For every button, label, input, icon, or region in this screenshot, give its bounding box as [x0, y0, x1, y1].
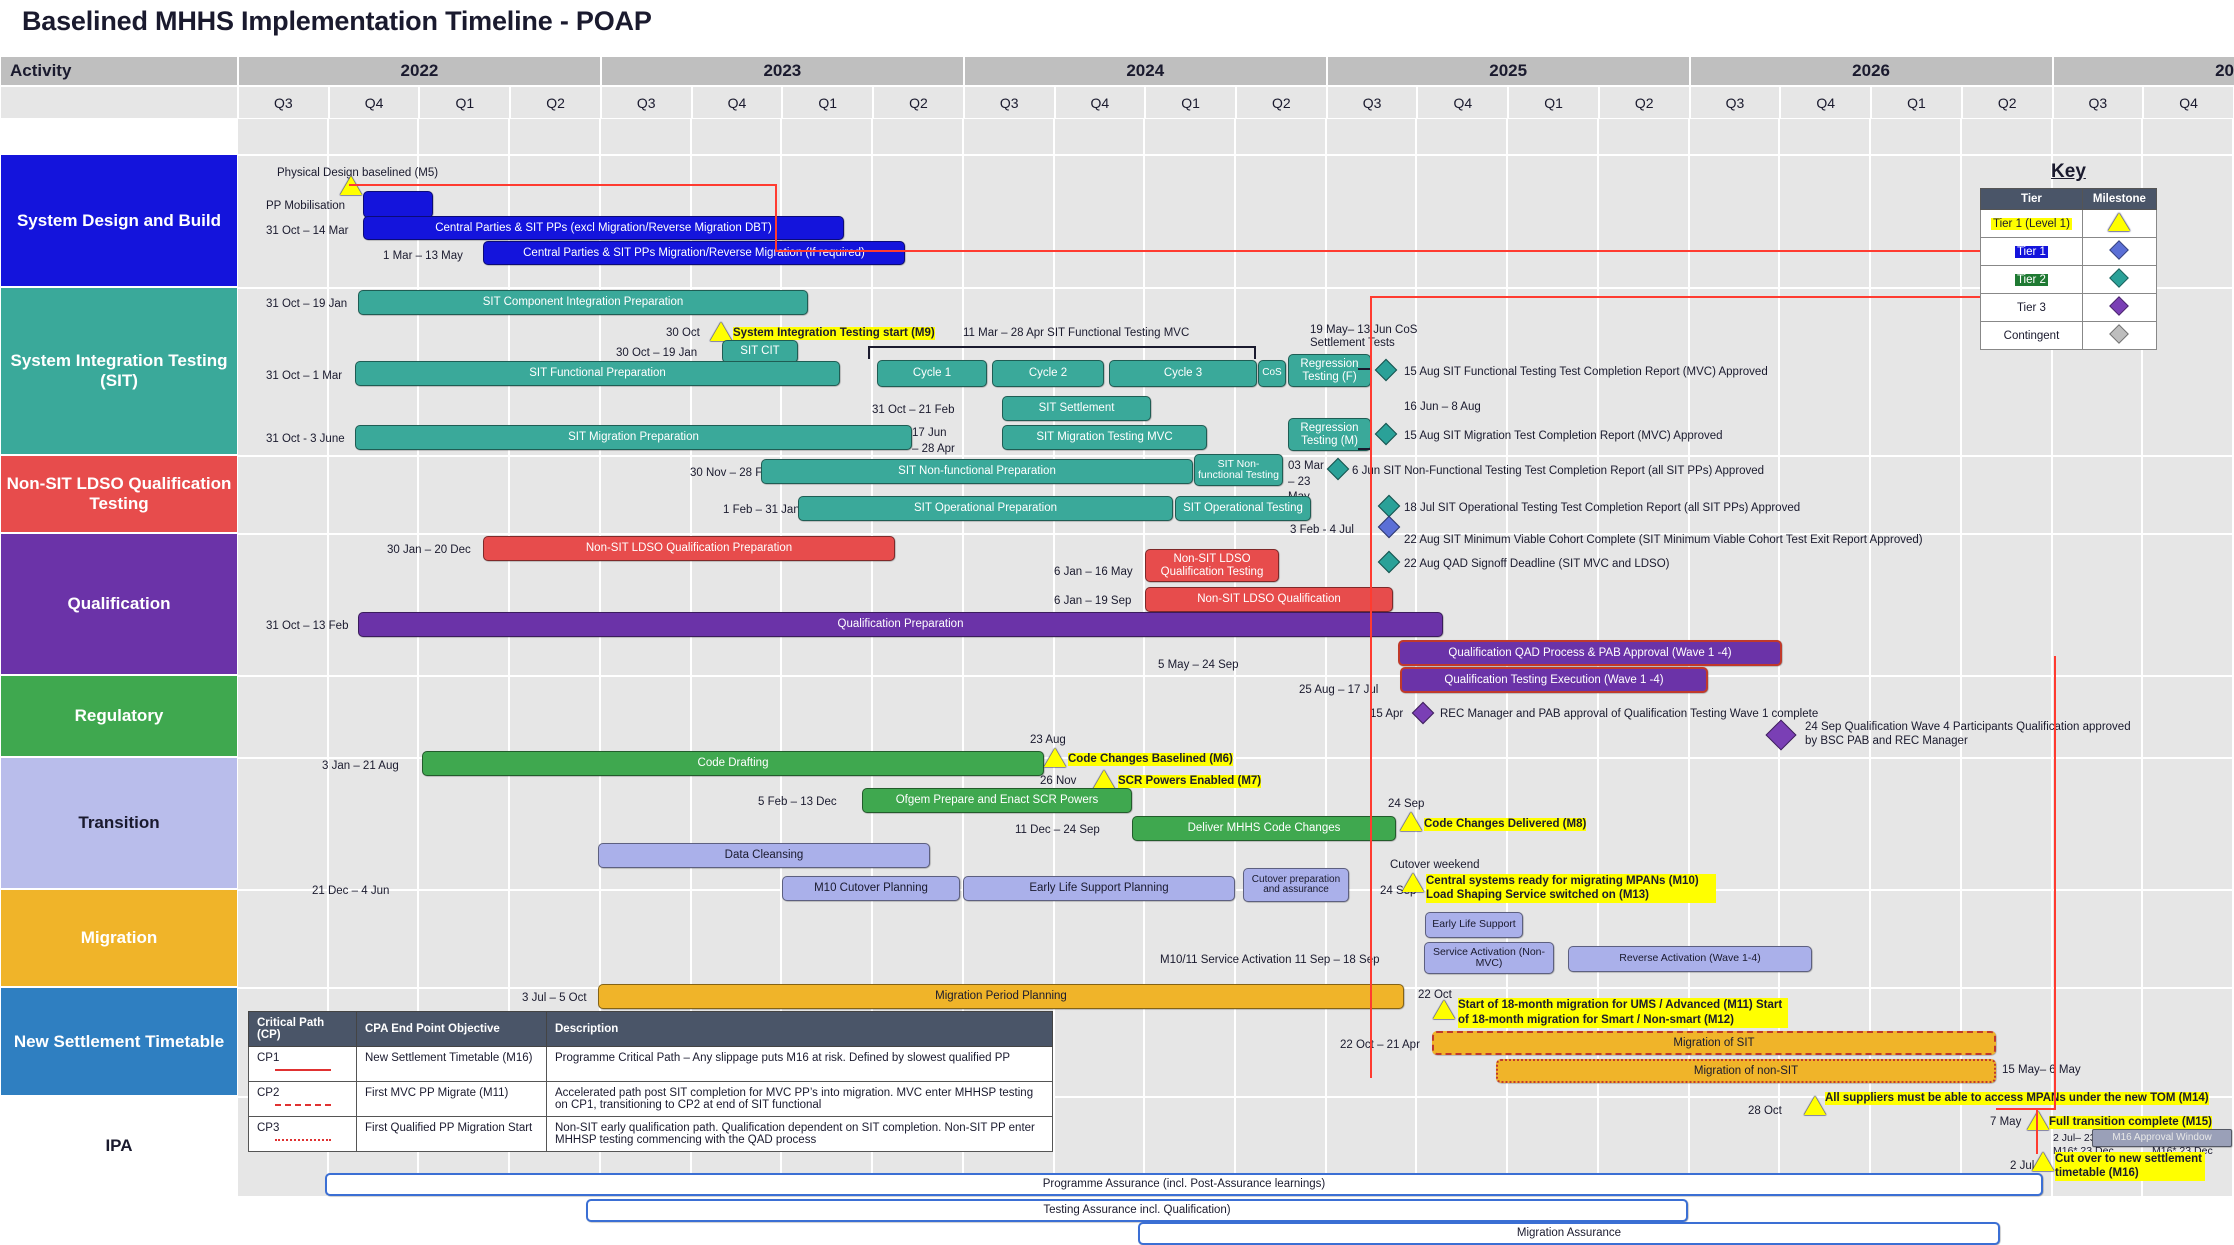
annotation-15may-6may: 15 May– 6 May	[2002, 1064, 2081, 1077]
activity-band-migration[interactable]: Migration	[0, 889, 238, 987]
bar-qualification-preparation[interactable]: Qualification Preparation	[358, 612, 1443, 637]
bar-code-drafting[interactable]: Code Drafting	[422, 751, 1044, 776]
bar-qualification-testing-execution[interactable]: Qualification Testing Execution (Wave 1 …	[1400, 667, 1708, 693]
cp-description-cell: Non-SIT early qualification path. Qualif…	[547, 1117, 1053, 1152]
table-row: CP3First Qualified PP Migration StartNon…	[249, 1117, 1053, 1152]
bar-reverse-activation[interactable]: Reverse Activation (Wave 1-4)	[1568, 946, 1812, 972]
activity-band-ipa[interactable]: IPA	[0, 1096, 238, 1196]
annotation-cutover-weekend: Cutover weekend	[1390, 859, 1480, 872]
year-header-2023: 2023	[601, 56, 964, 86]
quarter-header-7: Q2	[873, 86, 964, 119]
quarter-header-11: Q2	[1236, 86, 1327, 119]
bar-migration-of-sit[interactable]: Migration of SIT	[1432, 1031, 1996, 1055]
bar-sit-cit[interactable]: SIT CIT	[722, 340, 798, 363]
annotation-rec-pab-wave1: REC Manager and PAB approval of Qualific…	[1440, 708, 1818, 721]
quarter-column-10	[1145, 119, 1236, 1196]
date-sit-component-prep: 31 Oct – 19 Jan	[266, 298, 347, 311]
key-col-milestone: Milestone	[2082, 189, 2156, 210]
date-sit-functional-prep: 31 Oct – 1 Mar	[266, 370, 342, 383]
table-row: CP2First MVC PP Migrate (M11)Accelerated…	[249, 1082, 1053, 1117]
cp-id-label: CP3	[257, 1122, 279, 1134]
milestone-triangle-m10-m13	[1402, 873, 1424, 892]
quarter-header-19: Q2	[1962, 86, 2053, 119]
cp-line-sample	[275, 1139, 331, 1141]
bar-cycle-1[interactable]: Cycle 1	[877, 360, 987, 387]
bar-early-life-support[interactable]: Early Life Support	[1425, 912, 1523, 938]
bar-sit-settlement[interactable]: SIT Settlement	[1002, 396, 1151, 421]
quarter-header-8: Q3	[964, 86, 1055, 119]
page-title: Baselined MHHS Implementation Timeline -…	[22, 6, 652, 37]
quarter-header-16: Q3	[1690, 86, 1781, 119]
bar-nonsit-ldso-qualification-testing[interactable]: Non-SIT LDSO Qualification Testing	[1145, 549, 1279, 582]
quarter-column-9	[1055, 119, 1146, 1196]
activity-band-system-integration-testing-sit[interactable]: System Integration Testing (SIT)	[0, 287, 238, 455]
year-header-2025: 2025	[1327, 56, 1690, 86]
bar-cos[interactable]: CoS	[1258, 360, 1286, 387]
activity-band-qualification[interactable]: Qualification	[0, 533, 238, 675]
key-milestone-shape	[2082, 238, 2156, 266]
header-blank	[0, 86, 238, 119]
bar-deliver-mhhs-code-changes[interactable]: Deliver MHHS Code Changes	[1132, 816, 1396, 841]
annotation-m1011-service-activation: M10/11 Service Activation 11 Sep – 18 Se…	[1160, 954, 1380, 967]
quarter-header-21: Q4	[2143, 86, 2234, 119]
annotation-cos-settlement-tests: 19 May– 13 Jun CoS Settlement Tests	[1310, 324, 1450, 350]
date-migration-period-planning: 3 Jul – 5 Oct	[522, 992, 587, 1005]
activity-band-transition[interactable]: Transition	[0, 757, 238, 889]
quarter-header-10: Q1	[1145, 86, 1236, 119]
annotation-sit-functional-testing-mvc: 11 Mar – 28 Apr SIT Functional Testing M…	[963, 327, 1189, 340]
diamond-icon	[2110, 296, 2130, 316]
key-tier-label: Tier 1 (Level 1)	[1981, 210, 2083, 238]
bar-programme-assurance[interactable]: Programme Assurance (incl. Post-Assuranc…	[325, 1173, 2043, 1196]
annotation-m16: Cut over to new settlement timetable (M1…	[2055, 1152, 2205, 1181]
date-ofgem-scr: 5 Feb – 13 Dec	[758, 796, 837, 809]
date-m9: 30 Oct	[666, 327, 700, 340]
key-row: Contingent	[1981, 322, 2157, 350]
milestone-triangle-m7	[1093, 770, 1115, 789]
date-sit-migration-testing-mvc: 17 Jun – 28 Apr	[912, 426, 956, 457]
bar-cycle-3[interactable]: Cycle 3	[1109, 360, 1257, 387]
date-sit-migration-prep: 31 Oct - 3 June	[266, 433, 345, 446]
annotation-sit-operational-tcr: 18 Jul SIT Operational Testing Test Comp…	[1404, 502, 1800, 515]
annotation-m9: System Integration Testing start (M9)	[733, 327, 935, 340]
date-code-drafting: 3 Jan – 21 Aug	[322, 760, 399, 773]
bar-cycle-2[interactable]: Cycle 2	[992, 360, 1104, 387]
bracket-sit-functional-testing	[868, 346, 1256, 359]
bar-central-parties-migration[interactable]: Central Parties & SIT PPs Migration/Reve…	[483, 241, 905, 265]
key-tier-label: Tier 1	[1981, 238, 2083, 266]
quarter-header-4: Q3	[601, 86, 692, 119]
table-row: CP1New Settlement Timetable (M16)Program…	[249, 1047, 1053, 1082]
cp-description-cell: Programme Critical Path – Any slippage p…	[547, 1047, 1053, 1082]
annotation-m10-m13: Central systems ready for migrating MPAN…	[1426, 874, 1716, 903]
key-tier-label: Contingent	[1981, 322, 2083, 350]
quarter-header-18: Q1	[1871, 86, 1962, 119]
annotation-m14: All suppliers must be able to access MPA…	[1825, 1092, 2209, 1105]
quarter-header-2: Q1	[419, 86, 510, 119]
activity-band-system-design-and-build[interactable]: System Design and Build	[0, 154, 238, 287]
cp-id-cell: CP2	[249, 1082, 357, 1117]
date-m15: 7 May	[1990, 1116, 2021, 1129]
critical-path-table: Critical Path (CP) CPA End Point Objecti…	[248, 1011, 1053, 1152]
quarter-header-6: Q1	[782, 86, 873, 119]
date-nonsit-ldso-qualification: 6 Jan – 19 Sep	[1054, 595, 1131, 608]
annotation-m8: Code Changes Delivered (M8)	[1424, 818, 1586, 831]
quarter-header-15: Q2	[1599, 86, 1690, 119]
cp-col-1: CPA End Point Objective	[357, 1012, 547, 1047]
milestone-triangle-m6	[1044, 748, 1066, 767]
key-col-tier: Tier	[1981, 189, 2083, 210]
date-rec-manager-approval: 15 Apr	[1370, 708, 1403, 721]
annotation-m7: SCR Powers Enabled (M7)	[1118, 775, 1261, 788]
date-migration-of-sit: 22 Oct – 21 Apr	[1340, 1039, 1420, 1052]
bar-ofgem-scr-powers[interactable]: Ofgem Prepare and Enact SCR Powers	[862, 788, 1132, 813]
date-qualification-qad-pab: 5 May – 24 Sep	[1158, 659, 1239, 672]
key-table: Tier Milestone Tier 1 (Level 1)Tier 1Tie…	[1980, 188, 2157, 350]
annotation-16jun-8aug: 16 Jun – 8 Aug	[1404, 401, 1481, 414]
quarter-header-17: Q4	[1780, 86, 1871, 119]
date-nonsit-ldso-prep: 30 Jan – 20 Dec	[387, 544, 471, 557]
bar-qualification-qad-process[interactable]: Qualification QAD Process & PAB Approval…	[1398, 640, 1782, 666]
annotation-m6: Code Changes Baselined (M6)	[1068, 753, 1233, 766]
year-header-2027: 2027	[2053, 56, 2234, 86]
key-title: Key	[1980, 161, 2157, 183]
bar-pp-mobilisation[interactable]	[363, 191, 433, 218]
key-row: Tier 1	[1981, 238, 2157, 266]
cp-col-0: Critical Path (CP)	[249, 1012, 357, 1047]
date-qualification-prep: 31 Oct – 13 Feb	[266, 620, 348, 633]
bar-central-parties-sit-pps[interactable]: Central Parties & SIT PPs (excl Migratio…	[363, 216, 844, 240]
bar-early-life-support-planning[interactable]: Early Life Support Planning	[963, 876, 1235, 901]
bar-cutover-preparation[interactable]: Cutover preparation and assurance	[1243, 868, 1349, 902]
milestone-triangle-m11-m12	[1433, 1000, 1455, 1019]
date-cp-sit-pps: 31 Oct – 14 Mar	[266, 225, 348, 238]
bar-sit-migration-preparation[interactable]: SIT Migration Preparation	[355, 425, 912, 450]
diamond-icon	[2110, 268, 2130, 288]
gantt-chart: Activity 202220232024202520262027Q3Q4Q1Q…	[0, 56, 2234, 1196]
quarter-column-11	[1236, 119, 1327, 1196]
header-activity: Activity	[0, 56, 238, 86]
milestone-triangle-m8	[1400, 812, 1422, 831]
bar-label-pp-mobilisation: PP Mobilisation	[266, 200, 345, 213]
cp-line-sample	[275, 1069, 331, 1071]
activity-band-new-settlement-timetable[interactable]: New Settlement Timetable	[0, 987, 238, 1096]
date-m10-cutover: 21 Dec – 4 Jun	[312, 885, 389, 898]
date-m14: 28 Oct	[1748, 1105, 1782, 1118]
bar-migration-assurance[interactable]: Migration Assurance	[1138, 1222, 2000, 1245]
annotation-sit-nonfunctional-tcr: 6 Jun SIT Non-Functional Testing Test Co…	[1352, 465, 1764, 478]
cp-id-label: CP2	[257, 1087, 279, 1099]
quarter-header-12: Q3	[1327, 86, 1418, 119]
key-row: Tier 2	[1981, 266, 2157, 294]
annotation-sit-migration-tcr: 15 Aug SIT Migration Test Completion Rep…	[1404, 430, 1723, 443]
key-milestone-shape	[2082, 322, 2156, 350]
cp-line-sample	[275, 1104, 331, 1106]
activity-band-regulatory[interactable]: Regulatory	[0, 675, 238, 757]
quarter-header-20: Q3	[2053, 86, 2144, 119]
key-milestone-shape	[2082, 210, 2156, 238]
cp-objective-cell: First MVC PP Migrate (M11)	[357, 1082, 547, 1117]
date-qualification-testing-execution: 25 Aug – 17 Jul	[1299, 684, 1378, 697]
bar-sit-nonfunctional-preparation[interactable]: SIT Non-functional Preparation	[761, 459, 1193, 484]
diamond-icon	[2110, 240, 2130, 260]
key-milestone-shape	[2082, 294, 2156, 322]
bar-sit-functional-preparation[interactable]: SIT Functional Preparation	[355, 361, 840, 386]
cp-objective-cell: First Qualified PP Migration Start	[357, 1117, 547, 1152]
quarter-header-5: Q4	[692, 86, 783, 119]
annotation-sit-functional-tcr: 15 Aug SIT Functional Testing Test Compl…	[1404, 366, 1768, 379]
activity-band-non-sit-ldso-qualification-testing[interactable]: Non-SIT LDSO Qualification Testing	[0, 455, 238, 533]
date-deliver-code-changes: 11 Dec – 24 Sep	[1015, 824, 1100, 837]
date-nonsit-ldso-testing: 6 Jan – 16 May	[1054, 566, 1133, 579]
bar-sit-operational-preparation[interactable]: SIT Operational Preparation	[798, 496, 1173, 521]
annotation-qad-signoff: 22 Aug QAD Signoff Deadline (SIT MVC and…	[1404, 558, 1670, 571]
quarter-header-13: Q4	[1417, 86, 1508, 119]
bar-sit-migration-testing-mvc[interactable]: SIT Migration Testing MVC	[1002, 425, 1207, 450]
cp-id-label: CP1	[257, 1052, 279, 1064]
bar-nonsit-ldso-qualification-preparation[interactable]: Non-SIT LDSO Qualification Preparation	[483, 536, 895, 561]
bar-m10-cutover-planning[interactable]: M10 Cutover Planning	[782, 876, 960, 901]
date-sit-operational-prep: 1 Feb – 31 Jan	[723, 504, 800, 517]
key-row: Tier 3	[1981, 294, 2157, 322]
diamond-icon	[2110, 324, 2130, 344]
bar-migration-period-planning[interactable]: Migration Period Planning	[598, 984, 1404, 1009]
quarter-header-9: Q4	[1055, 86, 1146, 119]
cp-objective-cell: New Settlement Timetable (M16)	[357, 1047, 547, 1082]
year-header-2022: 2022	[238, 56, 601, 86]
date-sit-cit: 30 Oct – 19 Jan	[616, 347, 697, 360]
bar-migration-of-nonsit[interactable]: Migration of non-SIT	[1496, 1059, 1996, 1083]
date-sit-operational-testing: 3 Feb - 4 Jul	[1290, 524, 1354, 537]
bar-sit-nonfunctional-testing[interactable]: SIT Non-functional Testing	[1194, 454, 1283, 486]
bar-sit-component-integration-preparation[interactable]: SIT Component Integration Preparation	[358, 290, 808, 315]
key-row: Tier 1 (Level 1)	[1981, 210, 2157, 238]
key-legend: Key Tier Milestone Tier 1 (Level 1)Tier …	[1980, 161, 2157, 350]
date-cp-sit-pps-migration: 1 Mar – 13 May	[383, 250, 463, 263]
quarter-header-1: Q4	[329, 86, 420, 119]
annotation-qualification-wave4: 24 Sep Qualification Wave 4 Participants…	[1805, 720, 2135, 749]
bar-service-activation-nonmvc[interactable]: Service Activation (Non-MVC)	[1424, 942, 1554, 974]
bar-nonsit-ldso-qualification[interactable]: Non-SIT LDSO Qualification	[1145, 587, 1393, 612]
date-m16: 2 Jul	[2010, 1160, 2034, 1173]
milestone-triangle-m15	[2027, 1111, 2049, 1130]
date-m6: 23 Aug	[1030, 734, 1066, 747]
year-header-2026: 2026	[1690, 56, 2053, 86]
quarter-header-3: Q2	[510, 86, 601, 119]
year-header-2024: 2024	[964, 56, 1327, 86]
annotation-m11-m12: Start of 18-month migration for UMS / Ad…	[1458, 998, 1788, 1028]
bar-sit-operational-testing[interactable]: SIT Operational Testing	[1175, 496, 1311, 521]
key-tier-label: Tier 3	[1981, 294, 2083, 322]
milestone-triangle-m14	[1804, 1096, 1826, 1115]
cp-description-cell: Accelerated path post SIT completion for…	[547, 1082, 1053, 1117]
key-milestone-shape	[2082, 266, 2156, 294]
annotation-m15: Full transition complete (M15)	[2049, 1116, 2212, 1129]
bar-testing-assurance[interactable]: Testing Assurance incl. Qualification)	[586, 1199, 1688, 1222]
key-tier-label: Tier 2	[1981, 266, 2083, 294]
bar-data-cleansing[interactable]: Data Cleansing	[598, 843, 930, 868]
triangle-icon	[2108, 213, 2130, 231]
quarter-header-14: Q1	[1508, 86, 1599, 119]
annotation-sit-mvc-complete: 22 Aug SIT Minimum Viable Cohort Complet…	[1404, 534, 1923, 547]
milestone-triangle-m9	[710, 322, 732, 341]
cp-id-cell: CP3	[249, 1117, 357, 1152]
cp-id-cell: CP1	[249, 1047, 357, 1082]
quarter-header-0: Q3	[238, 86, 329, 119]
date-sit-settlement: 31 Oct – 21 Feb	[872, 404, 954, 417]
date-m7: 26 Nov	[1040, 775, 1076, 788]
milestone-triangle-m16	[2032, 1152, 2054, 1171]
cp-col-2: Description	[547, 1012, 1053, 1047]
date-m8: 24 Sep	[1388, 798, 1424, 811]
